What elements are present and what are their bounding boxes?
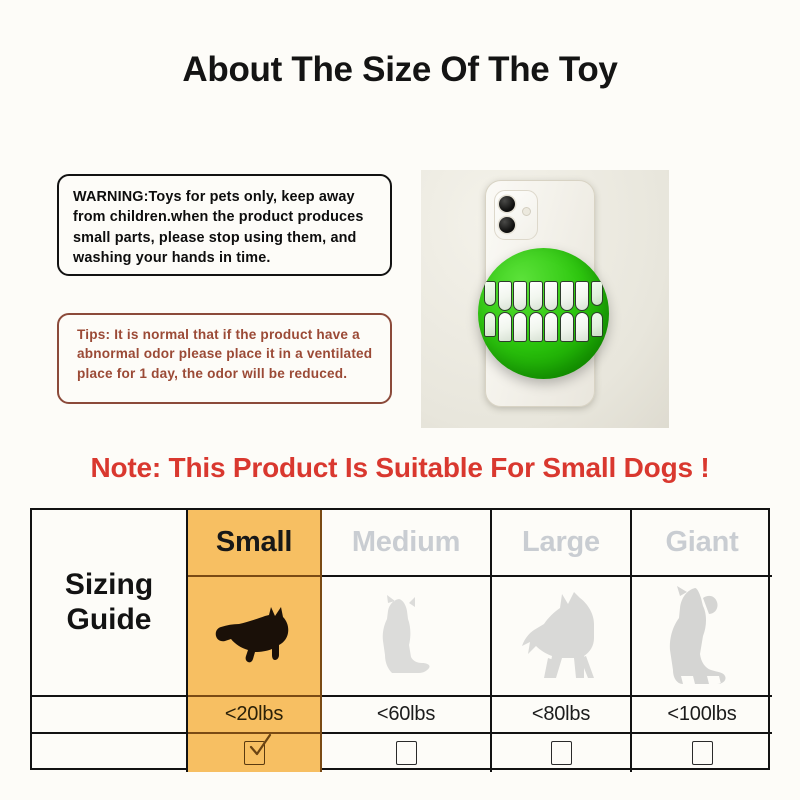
- weight-label: <80lbs: [532, 703, 590, 726]
- weight-label: <20lbs: [225, 703, 283, 726]
- dog-cell-medium: [322, 577, 492, 697]
- weight-cell-large: <80lbs: [492, 697, 632, 734]
- tooth: [544, 281, 558, 311]
- checkbox-small[interactable]: [244, 741, 265, 765]
- checkbox-giant[interactable]: [692, 741, 713, 765]
- large-sitting-dog-silhouette-icon: [659, 584, 745, 688]
- sizing-guide-table: Sizing Guide Small Medium Large Giant: [30, 508, 770, 770]
- tooth: [591, 281, 603, 306]
- size-header-label: Medium: [352, 526, 460, 559]
- tooth: [529, 312, 543, 342]
- tips-box: Tips: It is normal that if the product h…: [57, 313, 392, 404]
- tooth: [591, 312, 603, 337]
- product-photo: [421, 170, 669, 428]
- checkbox-cell-large[interactable]: [492, 734, 632, 772]
- sizing-table-blank-cell: [32, 697, 188, 734]
- weight-cell-medium: <60lbs: [322, 697, 492, 734]
- checkbox-cell-small[interactable]: [188, 734, 322, 772]
- checkbox-cell-giant[interactable]: [632, 734, 772, 772]
- tooth: [560, 312, 574, 342]
- teeth-graphic: [478, 281, 609, 345]
- tooth: [560, 281, 574, 311]
- tooth: [575, 312, 589, 342]
- green-teeth-ball-toy: [478, 248, 609, 379]
- sizing-guide-label-line1: Sizing: [65, 568, 153, 603]
- camera-flash-icon: [522, 207, 531, 216]
- weight-label: <100lbs: [667, 703, 736, 726]
- tooth: [484, 312, 496, 337]
- warning-box: WARNING:Toys for pets only, keep away fr…: [57, 174, 392, 276]
- dog-cell-large: [492, 577, 632, 697]
- size-header-medium[interactable]: Medium: [322, 510, 492, 577]
- checkbox-cell-medium[interactable]: [322, 734, 492, 772]
- tooth: [513, 281, 527, 311]
- tooth: [575, 281, 589, 311]
- dog-cell-small: [188, 577, 322, 697]
- sizing-guide-label-line2: Guide: [65, 603, 153, 638]
- sizing-table-blank-cell: [32, 734, 188, 772]
- dog-cell-giant: [632, 577, 772, 697]
- tooth: [513, 312, 527, 342]
- upper-teeth-row: [478, 281, 609, 311]
- camera-lens-icon: [499, 217, 515, 233]
- tooth: [498, 312, 512, 342]
- size-header-small[interactable]: Small: [188, 510, 322, 577]
- page-title: About The Size Of The Toy: [0, 50, 800, 90]
- corgi-silhouette-icon: [211, 605, 297, 667]
- warning-text: WARNING:Toys for pets only, keep away fr…: [73, 187, 376, 269]
- checkbox-large[interactable]: [551, 741, 572, 765]
- weight-cell-giant: <100lbs: [632, 697, 772, 734]
- weight-cell-small: <20lbs: [188, 697, 322, 734]
- check-mark-icon: [247, 734, 273, 759]
- size-header-large[interactable]: Large: [492, 510, 632, 577]
- size-header-label: Small: [216, 526, 292, 559]
- sizing-guide-label: Sizing Guide: [32, 510, 188, 697]
- checkbox-medium[interactable]: [396, 741, 417, 765]
- phone-camera-bump: [494, 190, 538, 240]
- weight-label: <60lbs: [377, 703, 435, 726]
- sitting-dog-silhouette-icon: [375, 593, 437, 679]
- suitability-note: Note: This Product Is Suitable For Small…: [0, 452, 800, 484]
- lower-teeth-row: [478, 312, 609, 342]
- tooth: [498, 281, 512, 311]
- size-header-label: Large: [522, 526, 600, 559]
- tooth: [484, 281, 496, 306]
- size-header-label: Giant: [665, 526, 738, 559]
- tips-text: Tips: It is normal that if the product h…: [77, 325, 376, 383]
- tooth: [529, 281, 543, 311]
- shepherd-silhouette-icon: [518, 588, 604, 684]
- camera-lens-icon: [499, 196, 515, 212]
- tooth: [544, 312, 558, 342]
- size-header-giant[interactable]: Giant: [632, 510, 772, 577]
